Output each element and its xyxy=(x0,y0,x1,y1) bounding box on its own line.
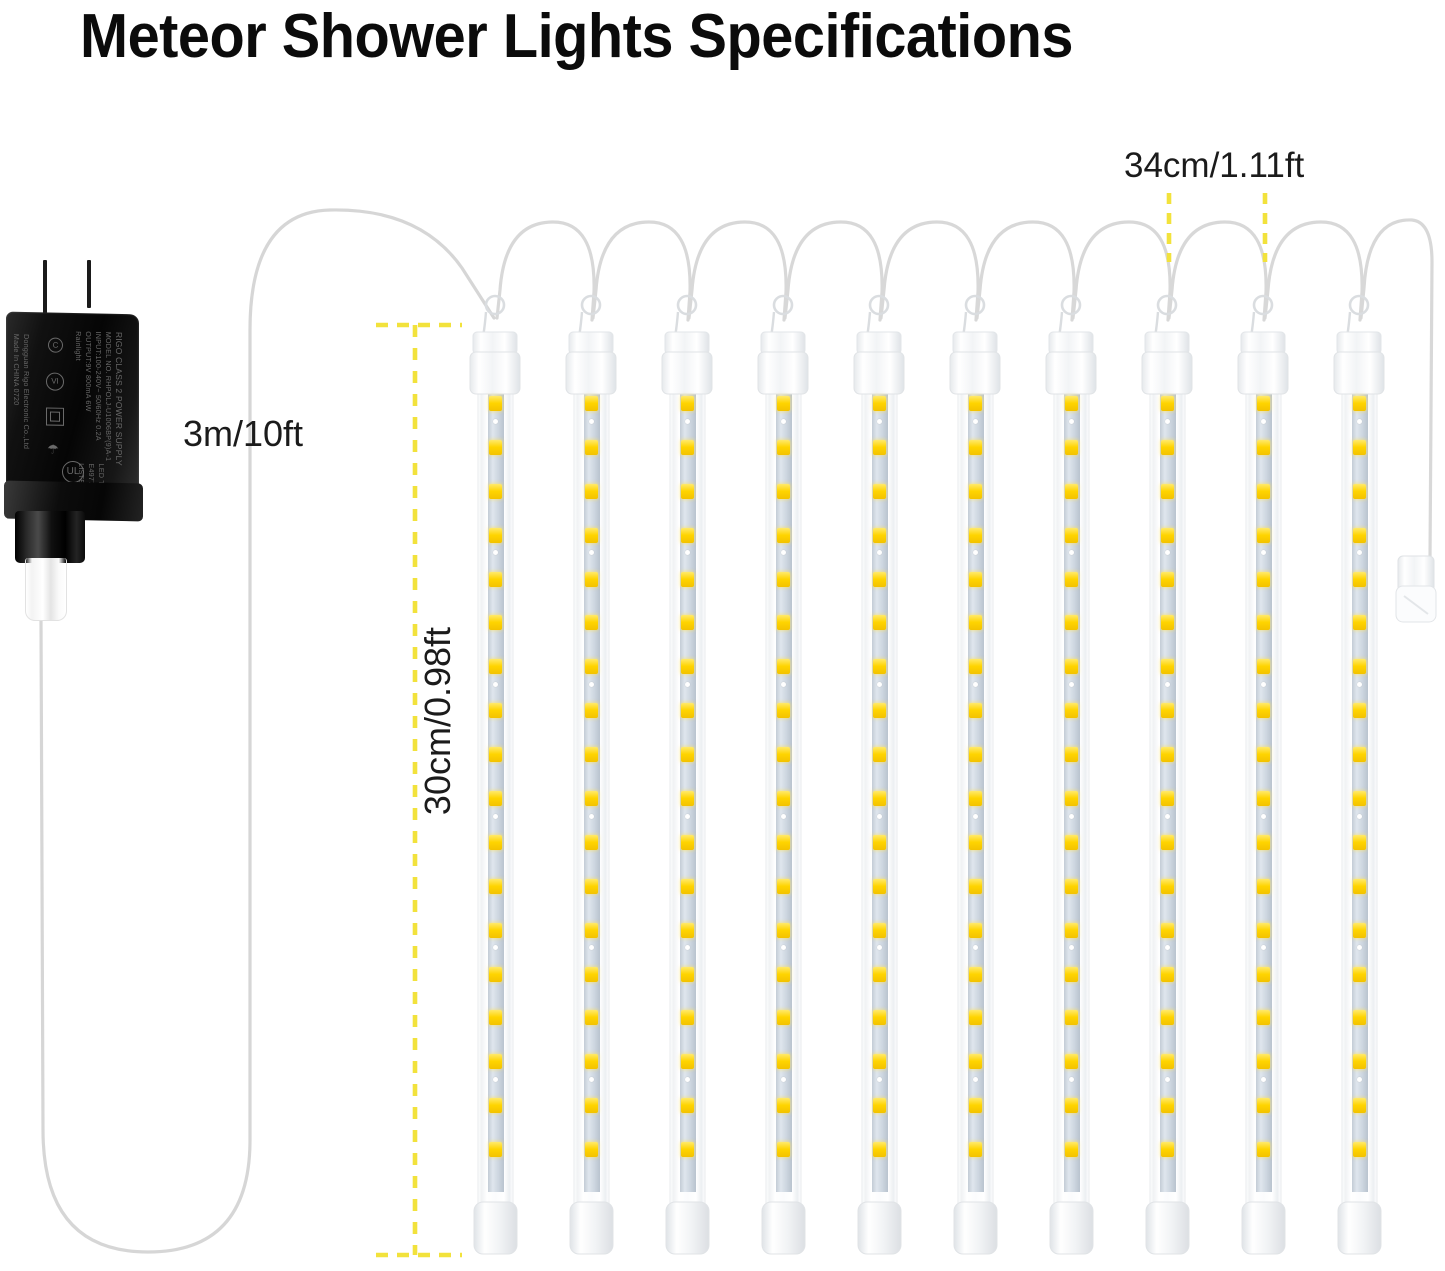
led-solder-dot xyxy=(1261,945,1266,950)
specification-image: Meteor Shower Lights Specifications xyxy=(0,0,1445,1271)
led-chip xyxy=(1257,659,1270,674)
led-chip xyxy=(489,440,502,455)
led-solder-dot xyxy=(877,945,882,950)
led-chip xyxy=(1065,791,1078,806)
led-chip xyxy=(1065,659,1078,674)
led-chip xyxy=(1161,1054,1174,1069)
led-chip xyxy=(873,1010,886,1025)
led-chip xyxy=(873,528,886,543)
led-chip xyxy=(1257,1142,1270,1157)
led-chip xyxy=(1257,791,1270,806)
led-chip xyxy=(1353,484,1366,499)
led-chip xyxy=(873,835,886,850)
led-chip xyxy=(777,615,790,630)
led-chip xyxy=(1353,659,1366,674)
led-solder-dot xyxy=(493,945,498,950)
led-chip xyxy=(969,1054,982,1069)
led-solder-dot xyxy=(589,814,594,819)
power-adapter: RIGO CLASS 2 POWER SUPPLY MODEL NO. RHPO… xyxy=(4,258,150,618)
led-chip-column xyxy=(777,396,791,1186)
adapter-output-plug xyxy=(25,558,67,621)
led-chip xyxy=(1161,572,1174,587)
led-chip xyxy=(1065,484,1078,499)
led-chip xyxy=(873,967,886,982)
led-chip xyxy=(1353,923,1366,938)
led-chip xyxy=(585,1098,598,1113)
led-chip xyxy=(585,1054,598,1069)
led-chip xyxy=(777,791,790,806)
led-chip-column xyxy=(681,396,695,1186)
led-chip xyxy=(969,484,982,499)
weee-bin-icon: ☂ xyxy=(44,440,62,456)
led-chip xyxy=(873,572,886,587)
led-chip-column xyxy=(969,396,983,1186)
led-chip xyxy=(777,835,790,850)
led-chip xyxy=(585,835,598,850)
led-chip xyxy=(1161,440,1174,455)
led-chip xyxy=(1065,1098,1078,1113)
led-chip-column xyxy=(585,396,599,1186)
led-chip xyxy=(585,615,598,630)
led-chip xyxy=(873,659,886,674)
led-chip xyxy=(489,879,502,894)
led-chip xyxy=(1257,615,1270,630)
led-solder-dot xyxy=(1069,945,1074,950)
led-chip xyxy=(1353,615,1366,630)
led-chip xyxy=(777,1098,790,1113)
led-chip xyxy=(777,440,790,455)
led-solder-dot xyxy=(685,814,690,819)
led-solder-dot xyxy=(589,945,594,950)
led-chip xyxy=(1257,879,1270,894)
led-chip xyxy=(585,440,598,455)
led-solder-dot xyxy=(1069,814,1074,819)
led-solder-dot xyxy=(685,419,690,424)
led-chip xyxy=(873,1054,886,1069)
led-chip xyxy=(1353,572,1366,587)
led-solder-dot xyxy=(493,550,498,555)
led-chip xyxy=(681,923,694,938)
led-chip xyxy=(1353,528,1366,543)
led-chip xyxy=(1353,879,1366,894)
lead-cable-length-label: 3m/10ft xyxy=(183,413,303,455)
led-chip xyxy=(777,703,790,718)
led-chip xyxy=(489,791,502,806)
led-chip xyxy=(1257,1054,1270,1069)
led-solder-dot xyxy=(877,1077,882,1082)
led-chip xyxy=(873,879,886,894)
led-solder-dot xyxy=(973,1077,978,1082)
led-chip xyxy=(1257,747,1270,762)
led-solder-dot xyxy=(1261,682,1266,687)
led-chip xyxy=(969,791,982,806)
led-chip xyxy=(681,835,694,850)
led-chip xyxy=(489,703,502,718)
led-chip xyxy=(1257,528,1270,543)
led-chip xyxy=(1161,484,1174,499)
led-chip xyxy=(489,1010,502,1025)
adapter-body: RIGO CLASS 2 POWER SUPPLY MODEL NO. RHPO… xyxy=(6,312,139,490)
led-chip xyxy=(1353,1010,1366,1025)
led-chip xyxy=(777,1054,790,1069)
led-chip xyxy=(681,1054,694,1069)
led-chip xyxy=(489,1142,502,1157)
adapter-collar xyxy=(15,511,85,563)
vi-efficiency-mark-icon: VI xyxy=(46,372,64,390)
led-chip xyxy=(873,396,886,411)
led-chip xyxy=(1161,615,1174,630)
led-chip-column xyxy=(1257,396,1271,1186)
led-chip-column xyxy=(873,396,887,1186)
led-chip xyxy=(489,528,502,543)
led-chip xyxy=(1065,396,1078,411)
led-chip-column xyxy=(1065,396,1079,1186)
led-solder-dot xyxy=(1069,550,1074,555)
adapter-label-line-1: MODEL NO. RHPOLJ-U1006BP(9)A-1 xyxy=(104,332,113,462)
led-solder-dot xyxy=(781,419,786,424)
led-chip xyxy=(1257,572,1270,587)
led-solder-dot xyxy=(1357,945,1362,950)
led-chip xyxy=(1065,1142,1078,1157)
led-solder-dot xyxy=(781,945,786,950)
led-chip xyxy=(1065,1010,1078,1025)
led-solder-dot xyxy=(1261,1077,1266,1082)
product-illustration xyxy=(0,0,1445,1271)
led-solder-dot xyxy=(877,682,882,687)
led-chip xyxy=(969,615,982,630)
led-solder-dot xyxy=(1357,1077,1362,1082)
led-chip xyxy=(681,440,694,455)
adapter-manufacturer-line-1: Made In CHINA 0720 xyxy=(12,334,21,406)
led-chip xyxy=(1065,528,1078,543)
led-chip-column xyxy=(1353,396,1367,1186)
led-solder-dot xyxy=(685,1077,690,1082)
led-chip xyxy=(1353,835,1366,850)
led-chip xyxy=(1065,747,1078,762)
led-chip xyxy=(777,967,790,982)
led-chip xyxy=(777,1142,790,1157)
led-chip xyxy=(1257,923,1270,938)
led-chip xyxy=(969,1142,982,1157)
led-chip xyxy=(489,659,502,674)
led-chip xyxy=(1257,440,1270,455)
led-solder-dot xyxy=(1261,814,1266,819)
tube-length-label: 30cm/0.98ft xyxy=(417,591,459,851)
led-chip xyxy=(489,835,502,850)
led-chip xyxy=(1257,1098,1270,1113)
plug-prong-icon xyxy=(87,260,91,308)
led-chip xyxy=(873,1098,886,1113)
led-chip xyxy=(1353,1142,1366,1157)
led-chip xyxy=(585,659,598,674)
led-solder-dot xyxy=(493,814,498,819)
led-solder-dot xyxy=(589,550,594,555)
ce-mark-icon: C xyxy=(48,337,63,352)
led-solder-dot xyxy=(973,945,978,950)
led-chip xyxy=(1065,1054,1078,1069)
led-chip xyxy=(1353,1098,1366,1113)
led-solder-dot xyxy=(973,814,978,819)
led-chip xyxy=(489,572,502,587)
led-chip xyxy=(681,879,694,894)
led-chip xyxy=(681,396,694,411)
adapter-label-line-4: Rainlight xyxy=(74,331,83,361)
led-chip xyxy=(969,1010,982,1025)
led-chip xyxy=(873,615,886,630)
led-chip xyxy=(585,484,598,499)
led-solder-dot xyxy=(589,1077,594,1082)
led-chip xyxy=(585,703,598,718)
led-chip xyxy=(681,791,694,806)
led-chip xyxy=(585,791,598,806)
led-chip xyxy=(1161,703,1174,718)
tube-spacing-marker xyxy=(1169,193,1265,262)
led-chip xyxy=(969,967,982,982)
led-chip xyxy=(681,1142,694,1157)
led-solder-dot xyxy=(877,550,882,555)
led-solder-dot xyxy=(493,682,498,687)
led-chip xyxy=(1161,1142,1174,1157)
led-chip xyxy=(969,703,982,718)
led-solder-dot xyxy=(1165,814,1170,819)
led-chip xyxy=(489,615,502,630)
led-chip xyxy=(777,879,790,894)
led-chip-column xyxy=(489,396,503,1186)
led-chip xyxy=(1353,1054,1366,1069)
led-chip xyxy=(969,659,982,674)
led-chip xyxy=(681,659,694,674)
led-solder-dot xyxy=(1357,550,1362,555)
led-chip xyxy=(1161,835,1174,850)
led-solder-dot xyxy=(973,682,978,687)
led-chip xyxy=(777,484,790,499)
led-chip xyxy=(1353,791,1366,806)
led-chip xyxy=(681,484,694,499)
led-chip xyxy=(969,1098,982,1113)
led-chip xyxy=(1161,879,1174,894)
led-chip xyxy=(1065,703,1078,718)
adapter-label-line-0: RIGO CLASS 2 POWER SUPPLY xyxy=(114,332,124,466)
led-chip xyxy=(1161,923,1174,938)
led-chip xyxy=(873,440,886,455)
led-solder-dot xyxy=(973,419,978,424)
led-chip xyxy=(969,747,982,762)
led-solder-dot xyxy=(1261,550,1266,555)
led-chip xyxy=(681,747,694,762)
led-chip xyxy=(1353,967,1366,982)
led-chip xyxy=(585,923,598,938)
led-solder-dot xyxy=(1165,945,1170,950)
led-solder-dot xyxy=(589,682,594,687)
led-chip xyxy=(585,1142,598,1157)
led-chip xyxy=(489,967,502,982)
tube-spacing-label: 34cm/1.11ft xyxy=(1124,146,1304,186)
led-chip xyxy=(585,396,598,411)
led-chip xyxy=(777,923,790,938)
led-chip xyxy=(777,747,790,762)
led-chip xyxy=(1161,967,1174,982)
led-chip xyxy=(489,396,502,411)
led-chip xyxy=(873,791,886,806)
led-solder-dot xyxy=(1069,682,1074,687)
adapter-label-line-3: OUTPUT:9V 800mA 6W xyxy=(84,331,93,411)
led-chip xyxy=(1353,747,1366,762)
led-chip xyxy=(1257,396,1270,411)
led-solder-dot xyxy=(781,550,786,555)
led-solder-dot xyxy=(1165,550,1170,555)
led-chip xyxy=(1161,747,1174,762)
adapter-manufacturer-line-0: Dongguan Rigo Electronic Co.,Ltd xyxy=(22,334,31,449)
led-chip xyxy=(1353,396,1366,411)
led-chip-column xyxy=(1161,396,1175,1186)
led-chip xyxy=(681,967,694,982)
led-chip xyxy=(1257,835,1270,850)
led-solder-dot xyxy=(1357,814,1362,819)
led-chip xyxy=(1257,703,1270,718)
led-chip xyxy=(1257,1010,1270,1025)
led-chip xyxy=(585,1010,598,1025)
led-chip xyxy=(1065,835,1078,850)
led-chip xyxy=(777,396,790,411)
led-chip xyxy=(1065,572,1078,587)
led-chip xyxy=(1161,659,1174,674)
led-solder-dot xyxy=(1357,682,1362,687)
led-chip xyxy=(489,1098,502,1113)
led-chip xyxy=(777,659,790,674)
led-chip xyxy=(969,879,982,894)
led-chip xyxy=(1353,440,1366,455)
led-chip xyxy=(1161,1098,1174,1113)
led-chip xyxy=(585,572,598,587)
led-chip xyxy=(969,396,982,411)
led-chip xyxy=(681,1010,694,1025)
led-chip xyxy=(1257,484,1270,499)
led-chip xyxy=(777,528,790,543)
led-chip xyxy=(681,528,694,543)
led-chip xyxy=(1065,615,1078,630)
led-solder-dot xyxy=(493,1077,498,1082)
led-chip xyxy=(873,923,886,938)
led-chip xyxy=(585,747,598,762)
led-chip xyxy=(489,747,502,762)
led-solder-dot xyxy=(1165,419,1170,424)
led-solder-dot xyxy=(781,814,786,819)
led-chip xyxy=(1065,879,1078,894)
led-chip xyxy=(969,528,982,543)
led-solder-dot xyxy=(685,682,690,687)
led-solder-dot xyxy=(1165,1077,1170,1082)
led-chip xyxy=(681,703,694,718)
led-chip xyxy=(873,747,886,762)
led-chip xyxy=(1161,1010,1174,1025)
led-chip xyxy=(1065,440,1078,455)
led-solder-dot xyxy=(1165,682,1170,687)
led-solder-dot xyxy=(493,419,498,424)
led-chip xyxy=(1065,923,1078,938)
led-solder-dot xyxy=(589,419,594,424)
led-chip xyxy=(489,484,502,499)
led-chip xyxy=(777,572,790,587)
led-solder-dot xyxy=(1069,1077,1074,1082)
adapter-label-line-2: INPUT:100-240V~ 50/60Hz 0.2A xyxy=(94,331,103,440)
led-chip xyxy=(1161,791,1174,806)
led-solder-dot xyxy=(781,1077,786,1082)
led-chip xyxy=(681,615,694,630)
led-chip xyxy=(681,1098,694,1113)
led-solder-dot xyxy=(1357,419,1362,424)
led-chip xyxy=(1065,967,1078,982)
end-connector xyxy=(1396,556,1436,622)
led-chip xyxy=(969,440,982,455)
led-tube-group xyxy=(470,296,1384,1254)
led-solder-dot xyxy=(877,419,882,424)
led-solder-dot xyxy=(1261,419,1266,424)
led-chip xyxy=(681,572,694,587)
led-chip xyxy=(1257,967,1270,982)
led-chip xyxy=(969,572,982,587)
led-chip xyxy=(969,923,982,938)
led-chip xyxy=(585,879,598,894)
led-chip xyxy=(1161,396,1174,411)
led-chip xyxy=(873,484,886,499)
led-solder-dot xyxy=(1069,419,1074,424)
plug-prong-icon xyxy=(43,260,47,317)
led-solder-dot xyxy=(685,945,690,950)
led-chip xyxy=(585,528,598,543)
led-solder-dot xyxy=(781,682,786,687)
led-chip xyxy=(489,923,502,938)
led-solder-dot xyxy=(973,550,978,555)
led-chip xyxy=(1353,703,1366,718)
led-solder-dot xyxy=(877,814,882,819)
led-chip xyxy=(777,1010,790,1025)
led-chip xyxy=(489,1054,502,1069)
led-chip xyxy=(873,1142,886,1157)
led-solder-dot xyxy=(685,550,690,555)
led-chip xyxy=(873,703,886,718)
class2-square-icon xyxy=(46,407,64,425)
led-chip xyxy=(1161,528,1174,543)
led-chip xyxy=(585,967,598,982)
led-chip xyxy=(969,835,982,850)
